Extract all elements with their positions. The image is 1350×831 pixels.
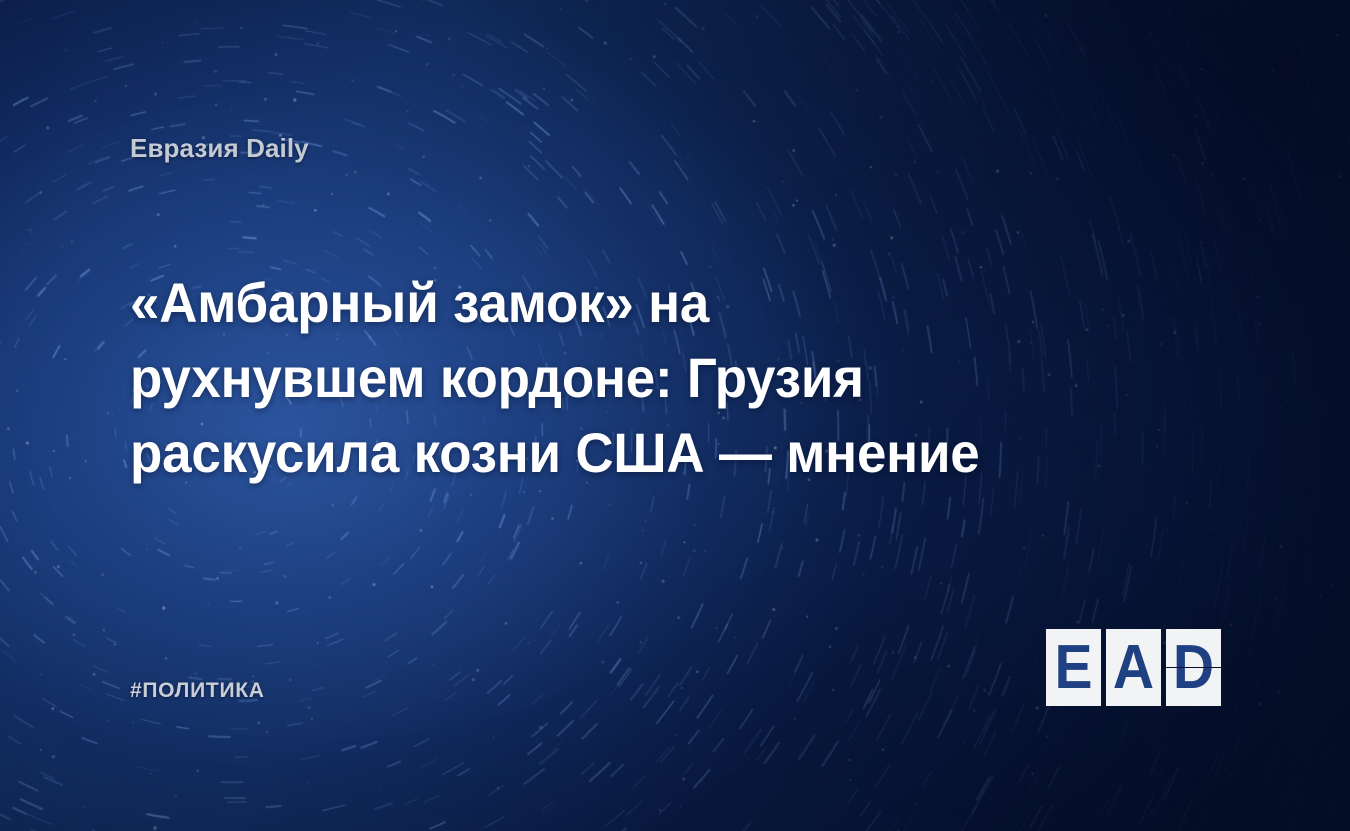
share-card: Евразия Daily «Амбарный замок» на рухнув… [0,0,1350,831]
logo-tile-e: E [1046,629,1101,706]
logo-letter-d-top: D [1168,629,1219,667]
logo-letter-d-bottom: D [1168,668,1219,706]
logo-letter-a: A [1108,629,1159,706]
logo-tile-d-top: D [1166,629,1221,667]
category-tag: #ПОЛИТИКА [130,679,265,703]
headline: «Амбарный замок» на рухнувшем кордоне: Г… [130,265,1009,490]
logo-tile-d-bottom: D [1166,668,1221,706]
publisher-name: Евразия Daily [130,133,309,164]
logo-tile-a: A [1106,629,1161,706]
eadaily-logo: E A D D [1046,629,1220,706]
logo-letter-e: E [1048,629,1099,706]
logo-tile-d-split: D D [1166,629,1221,706]
